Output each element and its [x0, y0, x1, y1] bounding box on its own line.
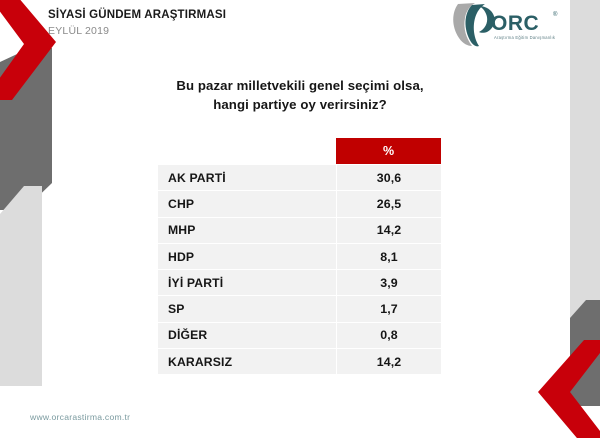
party-label: AK PARTİ: [158, 165, 336, 190]
orc-logo: ORC ® Araştırma Eğitim Danışmanlık: [450, 2, 562, 48]
right-red-chevron-icon: [524, 340, 600, 438]
svg-text:®: ®: [553, 11, 558, 18]
party-percent: 1,7: [336, 296, 441, 321]
party-label: İYİ PARTİ: [158, 270, 336, 295]
party-label: CHP: [158, 191, 336, 216]
table-row: SP 1,7: [158, 295, 441, 321]
left-gray-dark-band: [0, 48, 52, 210]
table-row: HDP 8,1: [158, 243, 441, 269]
results-table: % AK PARTİ 30,6 CHP 26,5 MHP 14,2 HDP 8,…: [158, 138, 441, 374]
question-line-2: hangi partiye oy verirsiniz?: [120, 95, 480, 114]
party-percent: 8,1: [336, 244, 441, 269]
party-percent: 30,6: [336, 165, 441, 190]
party-percent: 0,8: [336, 323, 441, 348]
table-row: MHP 14,2: [158, 217, 441, 243]
party-percent: 14,2: [336, 349, 441, 374]
party-label: HDP: [158, 244, 336, 269]
right-gray-dark-band: [570, 300, 600, 406]
svg-text:ORC: ORC: [491, 12, 539, 35]
header-title: SİYASİ GÜNDEM ARAŞTIRMASI: [48, 8, 226, 22]
party-label: KARARSIZ: [158, 349, 336, 374]
header-subtitle: EYLÜL 2019: [48, 24, 226, 38]
party-label: SP: [158, 296, 336, 321]
question-line-1: Bu pazar milletvekili genel seçimi olsa,: [120, 76, 480, 95]
table-header-row: %: [158, 138, 441, 164]
party-percent: 14,2: [336, 218, 441, 243]
question-title: Bu pazar milletvekili genel seçimi olsa,…: [120, 76, 480, 114]
table-row: İYİ PARTİ 3,9: [158, 269, 441, 295]
party-percent: 3,9: [336, 270, 441, 295]
footer-website-link[interactable]: www.orcarastirma.com.tr: [30, 412, 130, 422]
table-row: KARARSIZ 14,2: [158, 348, 441, 374]
table-header-name-cell: [158, 138, 336, 164]
left-gray-light-band: [0, 186, 42, 386]
slide-header: SİYASİ GÜNDEM ARAŞTIRMASI EYLÜL 2019: [48, 8, 226, 38]
table-row: DİĞER 0,8: [158, 322, 441, 348]
party-label: MHP: [158, 218, 336, 243]
party-label: DİĞER: [158, 323, 336, 348]
party-percent: 26,5: [336, 191, 441, 216]
logo-tagline: Araştırma Eğitim Danışmanlık: [494, 35, 556, 40]
right-gray-light-band: [570, 0, 600, 318]
table-header-percent-cell: %: [336, 138, 441, 164]
table-row: CHP 26,5: [158, 190, 441, 216]
slide-root: SİYASİ GÜNDEM ARAŞTIRMASI EYLÜL 2019 ORC…: [0, 0, 600, 438]
table-row: AK PARTİ 30,6: [158, 164, 441, 190]
